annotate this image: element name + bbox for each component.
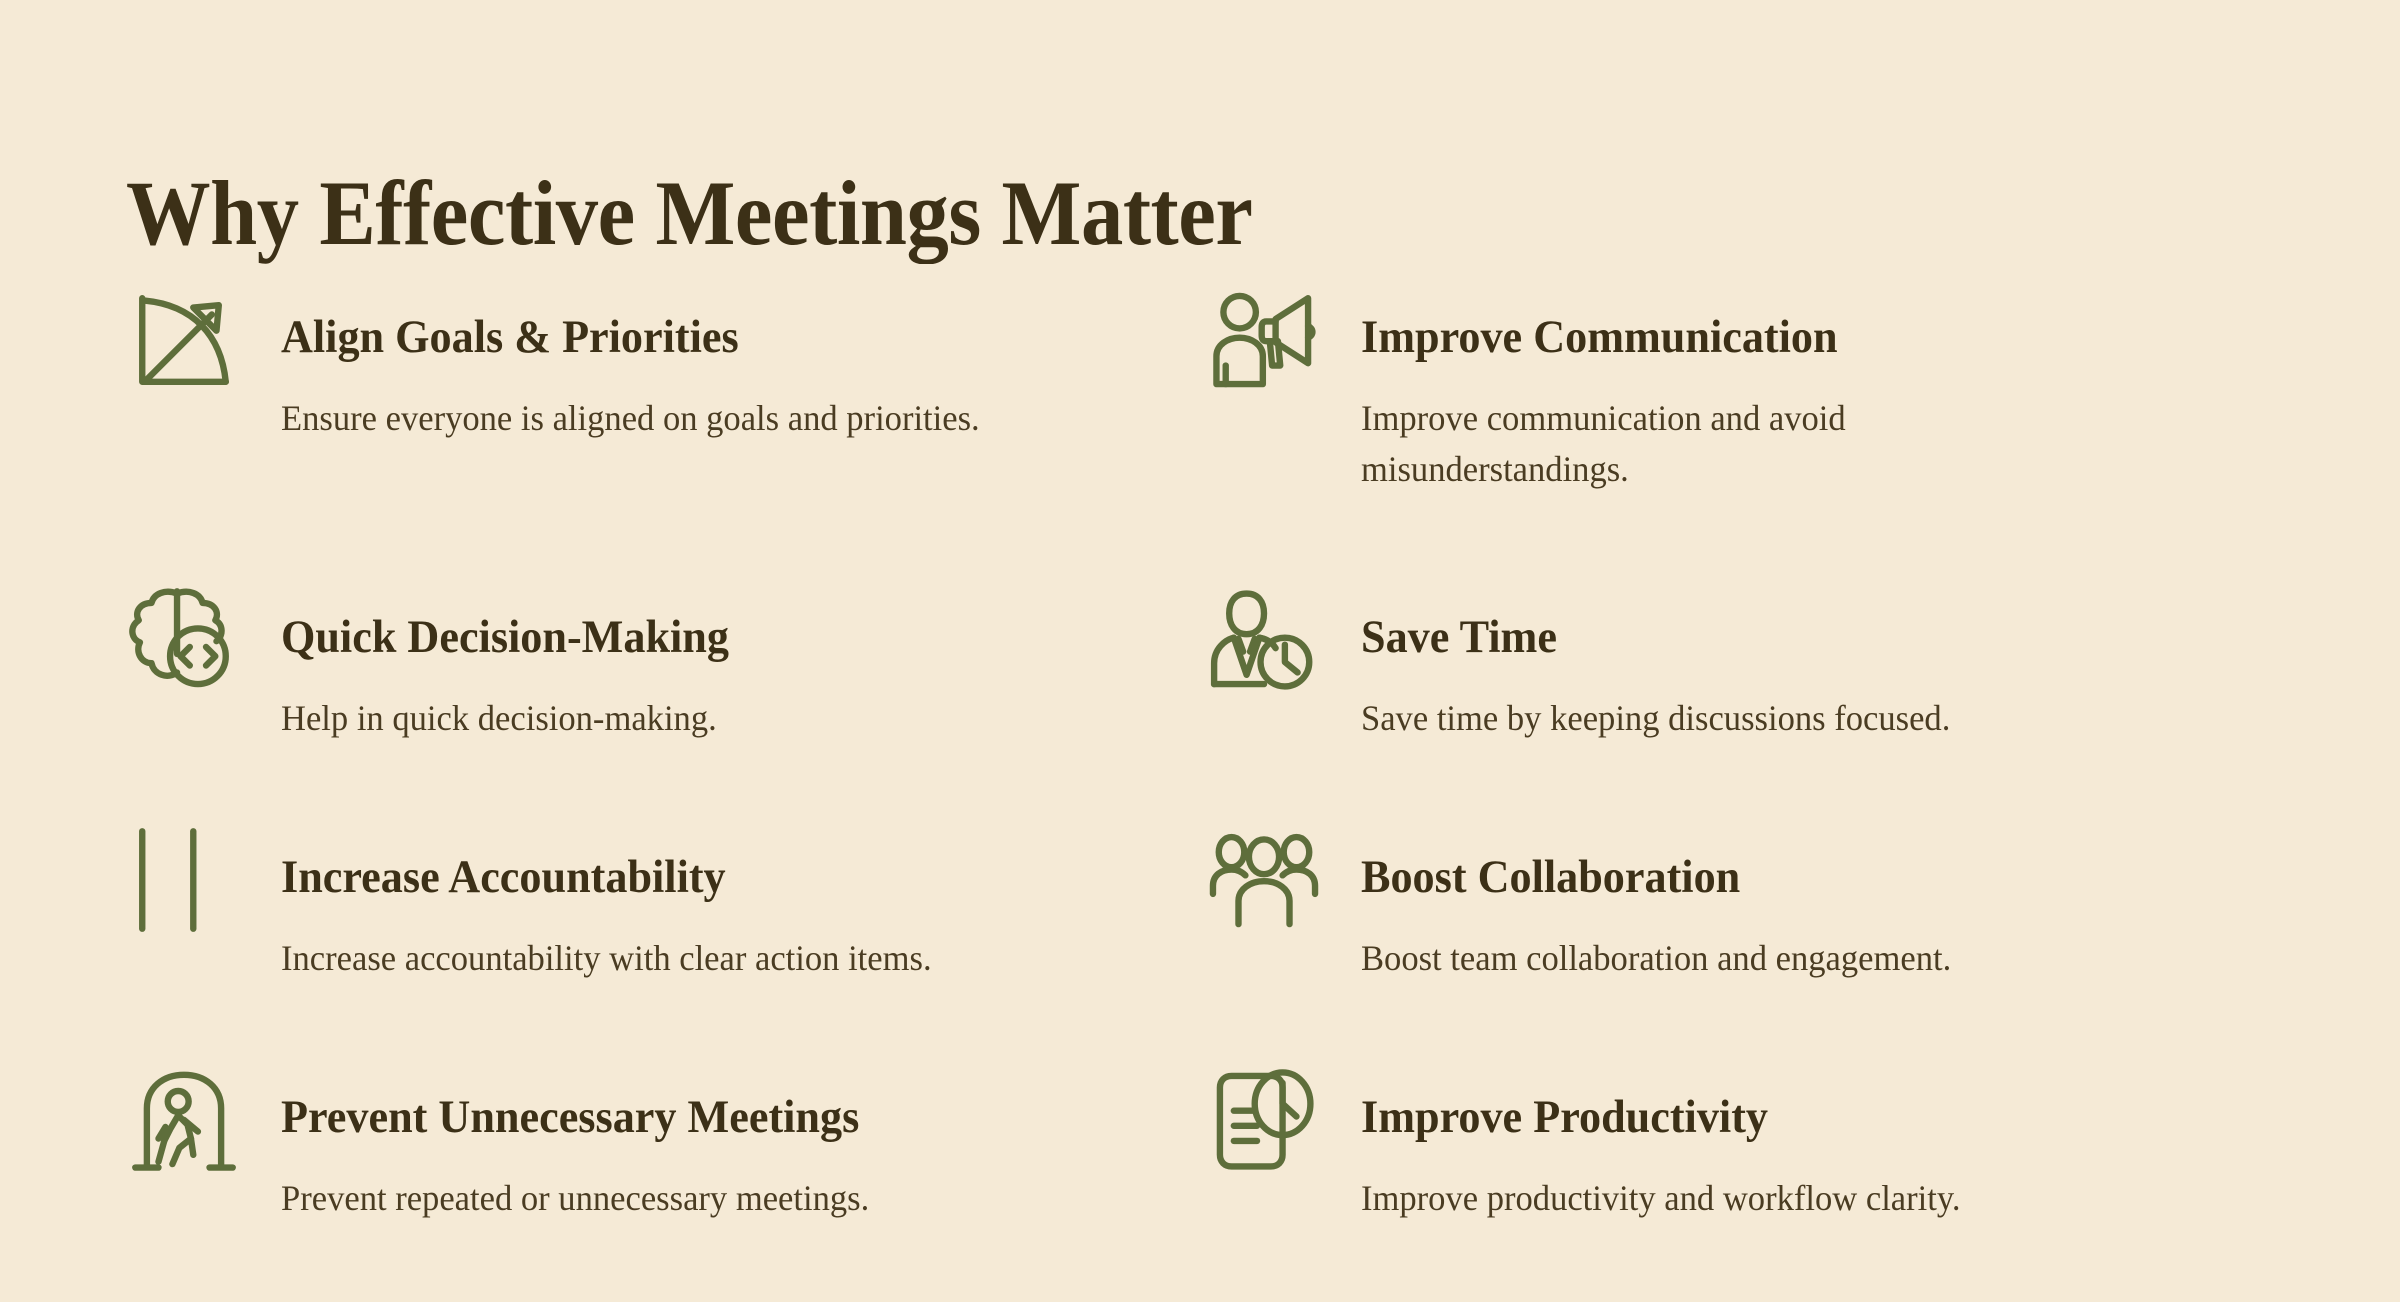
- benefit-text-block: Increase Accountability Increase account…: [281, 822, 1161, 984]
- slide-root: Why Effective Meetings Matter Align Goal…: [0, 0, 2400, 1287]
- benefit-text-block: Prevent Unnecessary Meetings Prevent rep…: [281, 1062, 1161, 1224]
- businessman-with-clock-icon: [1206, 582, 1322, 698]
- benefit-text-block: Improve Productivity Improve productivit…: [1361, 1062, 2241, 1224]
- benefit-title: Improve Productivity: [1361, 1062, 2188, 1141]
- benefit-description: Help in quick decision-making.: [281, 661, 895, 744]
- benefit-text-block: Align Goals & Priorities Ensure everyone…: [281, 282, 1161, 444]
- benefit-title: Align Goals & Priorities: [281, 282, 1108, 361]
- benefit-text-block: Improve Communication Improve communicat…: [1361, 282, 2241, 495]
- benefit-text-block: Save Time Save time by keeping discussio…: [1361, 582, 2241, 744]
- benefit-item-improve-productivity: Improve Productivity Improve productivit…: [1206, 1062, 2286, 1302]
- benefit-item-prevent-unnecessary-meetings: Prevent Unnecessary Meetings Prevent rep…: [126, 1062, 1206, 1302]
- benefit-title: Prevent Unnecessary Meetings: [281, 1062, 1108, 1141]
- page-title: Why Effective Meetings Matter: [126, 167, 1252, 259]
- benefit-description: Improve productivity and workflow clarit…: [1361, 1141, 1975, 1224]
- benefit-item-improve-communication: Improve Communication Improve communicat…: [1206, 282, 2286, 582]
- benefit-description: Save time by keeping discussions focused…: [1361, 661, 1975, 744]
- benefit-title: Increase Accountability: [281, 822, 1108, 901]
- benefit-item-quick-decision-making: Quick Decision-Making Help in quick deci…: [126, 582, 1206, 822]
- benefits-grid: Align Goals & Priorities Ensure everyone…: [126, 282, 2286, 1302]
- benefit-title: Quick Decision-Making: [281, 582, 1108, 661]
- person-with-megaphone-icon: [1206, 282, 1322, 398]
- benefit-text-block: Boost Collaboration Boost team collabora…: [1361, 822, 2241, 984]
- benefit-description: Boost team collaboration and engagement.: [1361, 901, 1975, 984]
- benefit-title: Boost Collaboration: [1361, 822, 2188, 901]
- benefit-item-save-time: Save Time Save time by keeping discussio…: [1206, 582, 2286, 822]
- benefit-description: Increase accountability with clear actio…: [281, 901, 1126, 984]
- benefit-description: Ensure everyone is aligned on goals and …: [281, 361, 1126, 444]
- three-people-group-icon: [1206, 822, 1322, 938]
- benefit-item-increase-accountability: Increase Accountability Increase account…: [126, 822, 1206, 1062]
- benefit-item-align-goals: Align Goals & Priorities Ensure everyone…: [126, 282, 1206, 582]
- bow-and-arrow-icon: [126, 282, 242, 398]
- benefit-title: Improve Communication: [1361, 282, 2188, 361]
- document-with-clock-icon: [1206, 1062, 1322, 1178]
- benefit-title: Save Time: [1361, 582, 2188, 661]
- brain-with-code-icon: [126, 582, 242, 698]
- pause-bars-icon: [126, 822, 242, 938]
- person-walking-through-arch-icon: [126, 1062, 242, 1178]
- benefit-description: Improve communication and avoid misunder…: [1361, 361, 1975, 495]
- benefit-item-boost-collaboration: Boost Collaboration Boost team collabora…: [1206, 822, 2286, 1062]
- benefit-description: Prevent repeated or unnecessary meetings…: [281, 1141, 1126, 1224]
- benefit-text-block: Quick Decision-Making Help in quick deci…: [281, 582, 1161, 744]
